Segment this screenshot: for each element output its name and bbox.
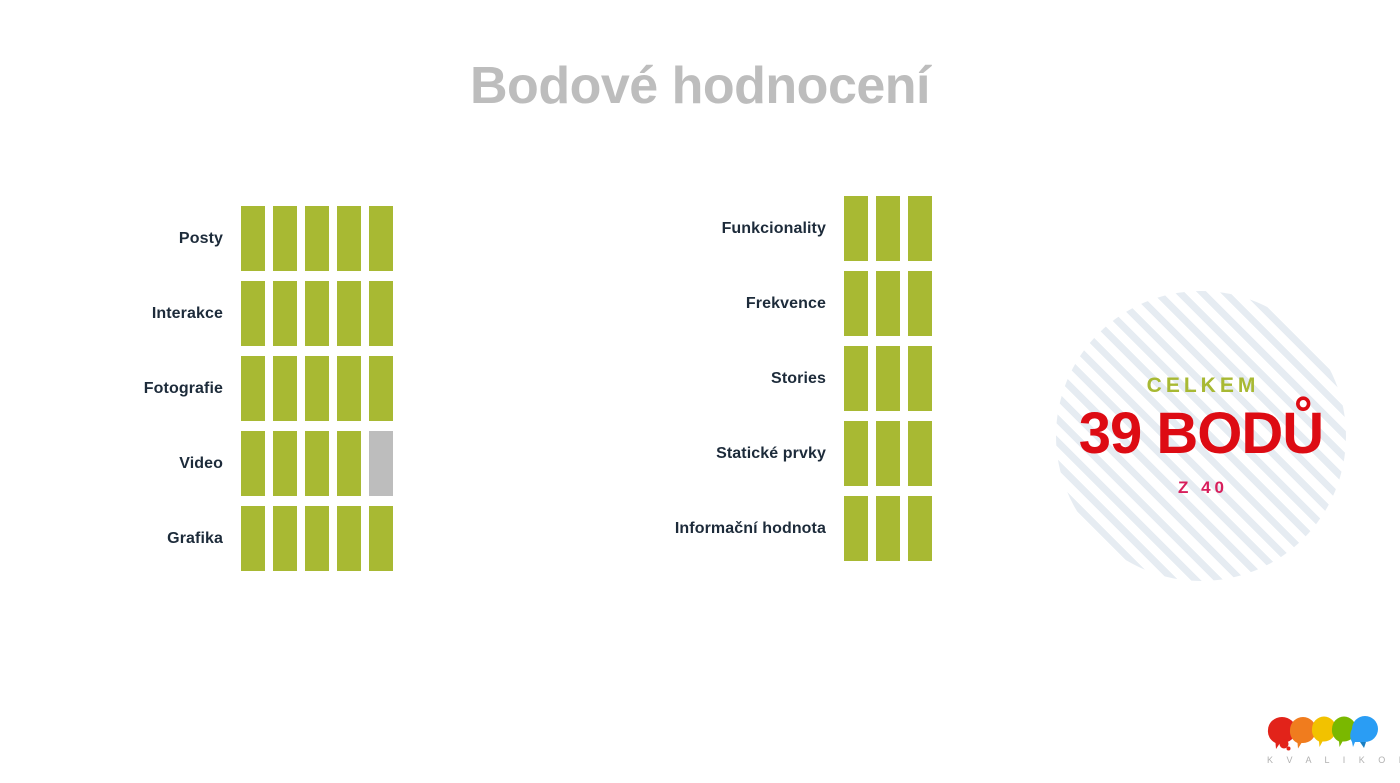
rating-unit-filled: [337, 431, 361, 496]
rating-unit-filled: [305, 281, 329, 346]
rating-unit-filled: [844, 421, 868, 486]
rating-unit-filled: [337, 281, 361, 346]
right-rating-chart: FunkcionalityFrekvenceStoriesStatické pr…: [560, 196, 960, 561]
slide-root: Bodové hodnocení PostyInterakceFotografi…: [0, 0, 1400, 783]
left_chart-label-1: Interakce: [60, 305, 241, 323]
rating-unit-filled: [369, 506, 393, 571]
rating-unit-filled: [273, 206, 297, 271]
rating-unit-filled: [273, 506, 297, 571]
rating-unit-filled: [908, 346, 932, 411]
left_chart-label-3: Video: [60, 455, 241, 473]
page-title: Bodové hodnocení: [0, 58, 1400, 115]
rating-bars: [241, 206, 393, 271]
rating-unit-filled: [876, 346, 900, 411]
left_chart-label-4: Grafika: [60, 530, 241, 548]
rating-row: Frekvence: [560, 271, 960, 336]
rating-unit-filled: [273, 356, 297, 421]
rating-unit-filled: [369, 281, 393, 346]
rating-unit-filled: [876, 421, 900, 486]
rating-unit-filled: [908, 196, 932, 261]
rating-bars: [844, 421, 932, 486]
rating-unit-filled: [369, 356, 393, 421]
score-total-label: CELKEM: [1143, 374, 1260, 398]
brand-logo: K V A L I K O M: [1262, 713, 1382, 775]
rating-unit-filled: [241, 206, 265, 271]
rating-row: Stories: [560, 346, 960, 411]
right_chart-label-3: Statické prvky: [560, 445, 844, 463]
rating-row: Funkcionality: [560, 196, 960, 261]
rating-unit-filled: [844, 496, 868, 561]
rating-unit-filled: [908, 271, 932, 336]
rating-unit-filled: [876, 496, 900, 561]
right_chart-label-1: Frekvence: [560, 295, 844, 313]
rating-row: Video: [60, 431, 460, 496]
speech-bubbles-icon: [1262, 713, 1382, 753]
rating-unit-filled: [273, 281, 297, 346]
rating-unit-filled: [305, 356, 329, 421]
logo-wordmark: K V A L I K O M: [1262, 755, 1382, 765]
right_chart-label-0: Funkcionality: [560, 220, 844, 238]
rating-unit-filled: [908, 496, 932, 561]
rating-unit-filled: [241, 506, 265, 571]
right_chart-label-2: Stories: [560, 370, 844, 388]
rating-row: Interakce: [60, 281, 460, 346]
rating-unit-filled: [908, 421, 932, 486]
rating-bars: [241, 431, 393, 496]
left_chart-label-0: Posty: [60, 230, 241, 248]
left_chart-label-2: Fotografie: [60, 380, 241, 398]
rating-unit-filled: [876, 271, 900, 336]
rating-unit-empty: [369, 431, 393, 496]
total-score-badge: CELKEM 39 BODŮ Z 40: [1056, 291, 1346, 581]
rating-unit-filled: [844, 346, 868, 411]
rating-unit-filled: [844, 196, 868, 261]
rating-bars: [844, 496, 932, 561]
rating-unit-filled: [337, 506, 361, 571]
rating-unit-filled: [305, 431, 329, 496]
rating-unit-filled: [337, 206, 361, 271]
rating-unit-filled: [241, 431, 265, 496]
rating-row: Fotografie: [60, 356, 460, 421]
rating-bars: [241, 356, 393, 421]
rating-bars: [241, 281, 393, 346]
rating-row: Grafika: [60, 506, 460, 571]
rating-unit-filled: [305, 206, 329, 271]
rating-unit-filled: [241, 356, 265, 421]
rating-unit-filled: [273, 431, 297, 496]
rating-bars: [844, 271, 932, 336]
rating-bars: [844, 346, 932, 411]
rating-unit-filled: [337, 356, 361, 421]
rating-row: Informační hodnota: [560, 496, 960, 561]
rating-unit-filled: [876, 196, 900, 261]
rating-unit-filled: [844, 271, 868, 336]
rating-bars: [241, 506, 393, 571]
left-rating-chart: PostyInterakceFotografieVideoGrafika: [60, 206, 460, 571]
rating-unit-filled: [241, 281, 265, 346]
score-value: 39 BODŮ: [1079, 404, 1323, 465]
rating-row: Posty: [60, 206, 460, 271]
rating-unit-filled: [369, 206, 393, 271]
rating-bars: [844, 196, 932, 261]
rating-unit-filled: [305, 506, 329, 571]
score-max-label: Z 40: [1174, 478, 1228, 498]
right_chart-label-4: Informační hodnota: [560, 520, 844, 538]
rating-row: Statické prvky: [560, 421, 960, 486]
